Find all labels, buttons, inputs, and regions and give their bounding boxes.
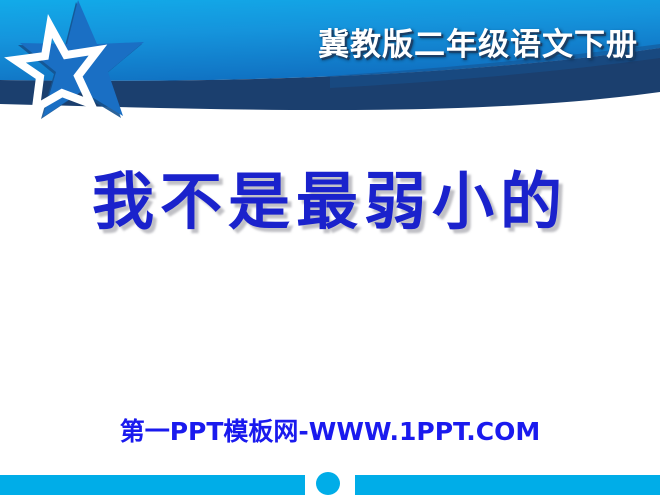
header-subject-line: 冀教版二年级语文下册 <box>0 26 638 65</box>
slide-main-title: 我不是最弱小的 <box>0 162 660 243</box>
bottom-bar-center-dot <box>316 472 340 495</box>
bottom-bar-left-segment <box>0 475 305 495</box>
footer-watermark-text: 第一PPT模板网-WWW.1PPT.COM <box>0 412 660 448</box>
slide-header-band: 冀教版二年级语文下册 <box>0 0 660 120</box>
presentation-slide: 冀教版二年级语文下册 我不是最弱小的 第一PPT模板网-WWW.1PPT.COM <box>0 0 660 495</box>
bottom-bar-right-segment <box>355 475 660 495</box>
